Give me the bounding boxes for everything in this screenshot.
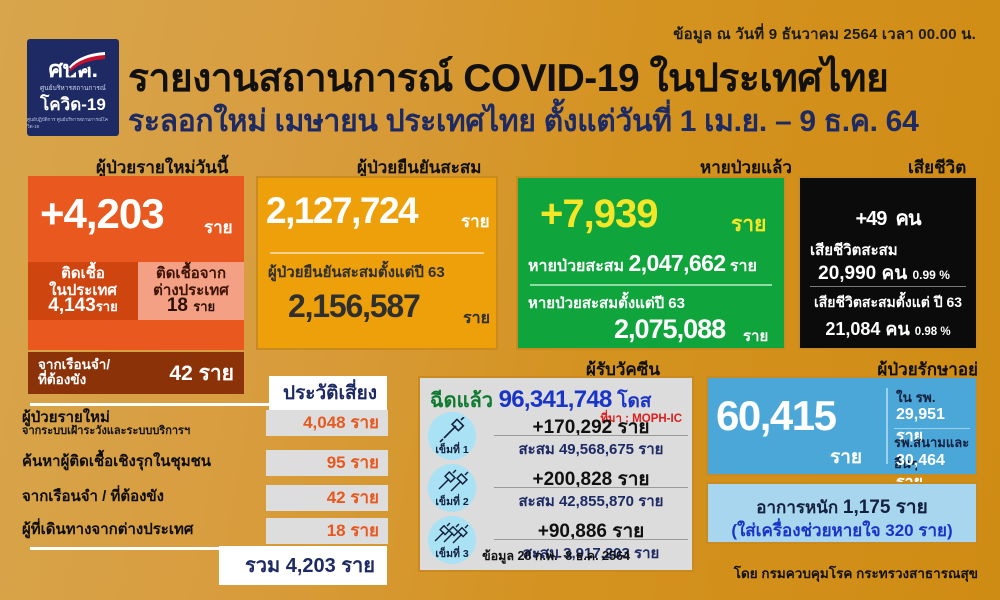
- imported-cases-block: ติดเชื้อจากต่างประเทศ 18 ราย: [138, 262, 244, 320]
- vaccine-dose-1-cumulative: สะสม 49,568,675 ราย: [494, 437, 688, 461]
- vaccine-dose-1-label: เข็มที่ 1: [435, 441, 468, 458]
- cumulative-unit: ราย: [461, 208, 490, 235]
- cumulative-since63-unit: ราย: [463, 306, 490, 331]
- syringe-2-icon: เข็มที่ 2: [428, 464, 476, 512]
- divider: [894, 428, 970, 429]
- logo-footnote: ศูนย์ปฏิบัติการ ศูนย์บริหารสถานการณ์โควิ…: [27, 117, 119, 131]
- new-cases-card: +4,203 ราย ติดเชื้อในประเทศ 4,143ราย ติด…: [28, 176, 244, 350]
- divider: [494, 539, 688, 540]
- infographic-root: ข้อมูล ณ วันที่ 9 ธันวาคม 2564 เวลา 00.0…: [0, 0, 1000, 600]
- cumulative-since63-label: ผู้ป่วยยืนยันสะสมตั้งแต่ปี 63: [268, 260, 445, 284]
- deaths-today: +49 คน: [800, 192, 976, 234]
- risk-row-label: จากเรือนจำ / ที่ต้องขัง: [22, 489, 164, 505]
- recovered-today-unit: ราย: [731, 208, 766, 241]
- vaccine-dose-1-row: เข็มที่ 1 +170,292 ราย สะสม 49,568,675 ร…: [428, 412, 688, 458]
- deaths-card: +49 คน เสียชีวิตสะสม 20,990 คน 0.99 % เส…: [798, 176, 978, 350]
- syringe-1-icon: เข็มที่ 1: [428, 412, 476, 460]
- divider: [270, 252, 484, 254]
- recovered-total-row: หายป่วยสะสม 2,047,662 ราย: [528, 250, 757, 279]
- divider: [886, 388, 888, 464]
- vaccine-dose-2-label: เข็มที่ 2: [435, 493, 468, 510]
- recovered-since63-value: 2,075,088: [614, 314, 725, 345]
- divider: [494, 435, 688, 436]
- risk-row-overseas: ผู้ที่เดินทางจากต่างประเทศ 18 ราย: [22, 518, 388, 548]
- risk-row-active-case-finding: ค้นหาผู้ติดเชื้อเชิงรุกในชุมชน 95 ราย: [22, 450, 388, 480]
- vaccine-dose-2-row: เข็มที่ 2 +200,828 ราย สะสม 42,855,870 ร…: [428, 464, 688, 510]
- page-subtitle: ระลอกใหม่ เมษายน ประเทศไทย ตั้งแต่วันที่…: [128, 98, 918, 145]
- risk-row-label: ค้นหาผู้ติดเชื้อเชิงรุกในชุมชน: [22, 454, 211, 470]
- risk-row-value: 18 ราย: [266, 518, 388, 544]
- vaccine-footnote: ข้อมูล 28 ก.พ.- 8 ธ.ค. 2564: [420, 546, 692, 566]
- risk-row-label: ผู้ป่วยรายใหม่จากระบบเฝ้าระวังและระบบบริ…: [22, 410, 190, 437]
- vaccine-dose-2-cumulative: สะสม 42,855,870 ราย: [494, 489, 688, 513]
- risk-row-value: 4,048 ราย: [266, 410, 388, 436]
- divider: [810, 286, 966, 287]
- risk-row-prison: จากเรือนจำ / ที่ต้องขัง 42 ราย: [22, 485, 388, 515]
- treating-total: 60,415: [716, 392, 835, 440]
- treating-card: 60,415 ราย ใน รพ. 29,951 ราย รพ.สนามและอ…: [706, 376, 978, 476]
- risk-row-surveillance: ผู้ป่วยรายใหม่จากระบบเฝ้าระวังและระบบบริ…: [22, 410, 388, 440]
- vaccine-card: ฉีดแล้ว 96,341,748 โดส ที่มา : MOPH-IC เ…: [418, 376, 694, 572]
- data-timestamp: ข้อมูล ณ วันที่ 9 ธันวาคม 2564 เวลา 00.0…: [673, 22, 976, 46]
- imported-cases-value: 18 ราย: [138, 295, 244, 317]
- recovered-card: +7,939 ราย หายป่วยสะสม 2,047,662 ราย หาย…: [516, 176, 786, 350]
- domestic-cases-value: 4,143ราย: [28, 295, 138, 317]
- cumulative-cases-card: 2,127,724 ราย ผู้ป่วยยืนยันสะสมตั้งแต่ปี…: [256, 176, 498, 350]
- in-hospital-label: ใน รพ.: [896, 386, 935, 408]
- new-cases-total: +4,203: [40, 190, 164, 238]
- cumulative-since63-value: 2,156,587: [288, 288, 420, 325]
- deaths-total-value: 20,990 คน 0.99 %: [800, 258, 968, 288]
- deaths-since63-value: 21,084 คน 0.98 %: [800, 314, 976, 343]
- prison-cases-label: จากเรือนจำ/ที่ต้องขัง: [38, 358, 110, 388]
- source-footer: โดย กรมควบคุมโรค กระทรวงสาธารณสุข: [734, 562, 978, 584]
- thai-flag-icon: [67, 51, 107, 77]
- divider: [494, 487, 688, 488]
- prison-cases-value: 42 ราย: [169, 357, 234, 390]
- logo-subtitle: ศูนย์บริหารสถานการณ์: [40, 83, 106, 93]
- recovered-today: +7,939: [540, 192, 657, 237]
- ventilator-row: (ใส่เครื่องช่วยหายใจ 320 ราย): [708, 517, 976, 544]
- recovered-since63-unit: ราย: [743, 324, 768, 348]
- new-cases-total-unit: ราย: [204, 214, 233, 241]
- domestic-cases-block: ติดเชื้อในประเทศ 4,143ราย: [28, 262, 138, 320]
- risk-row-value: 95 ราย: [266, 450, 388, 476]
- risk-history-total: รวม 4,203 ราย: [219, 546, 387, 585]
- sbc-logo: ศบค. ศูนย์บริหารสถานการณ์ โควิด-19 ศูนย์…: [27, 39, 119, 136]
- risk-row-label: ผู้ที่เดินทางจากต่างประเทศ: [22, 522, 193, 538]
- deaths-since63-label: เสียชีวิตสะสมตั้งแต่ ปี 63: [800, 292, 976, 314]
- recovered-since63-label: หายป่วยสะสมตั้งแต่ปี 63: [528, 291, 685, 315]
- treating-total-unit: ราย: [830, 442, 862, 472]
- divider: [30, 403, 386, 406]
- logo-covid-label: โควิด-19: [40, 96, 106, 115]
- cumulative-value: 2,127,724: [266, 190, 417, 232]
- severe-cases-card: อาการหนัก 1,175 ราย (ใส่เครื่องช่วยหายใจ…: [706, 482, 978, 544]
- prison-cases-card: จากเรือนจำ/ที่ต้องขัง 42 ราย: [28, 352, 244, 394]
- divider: [530, 284, 772, 286]
- risk-row-value: 42 ราย: [266, 485, 388, 511]
